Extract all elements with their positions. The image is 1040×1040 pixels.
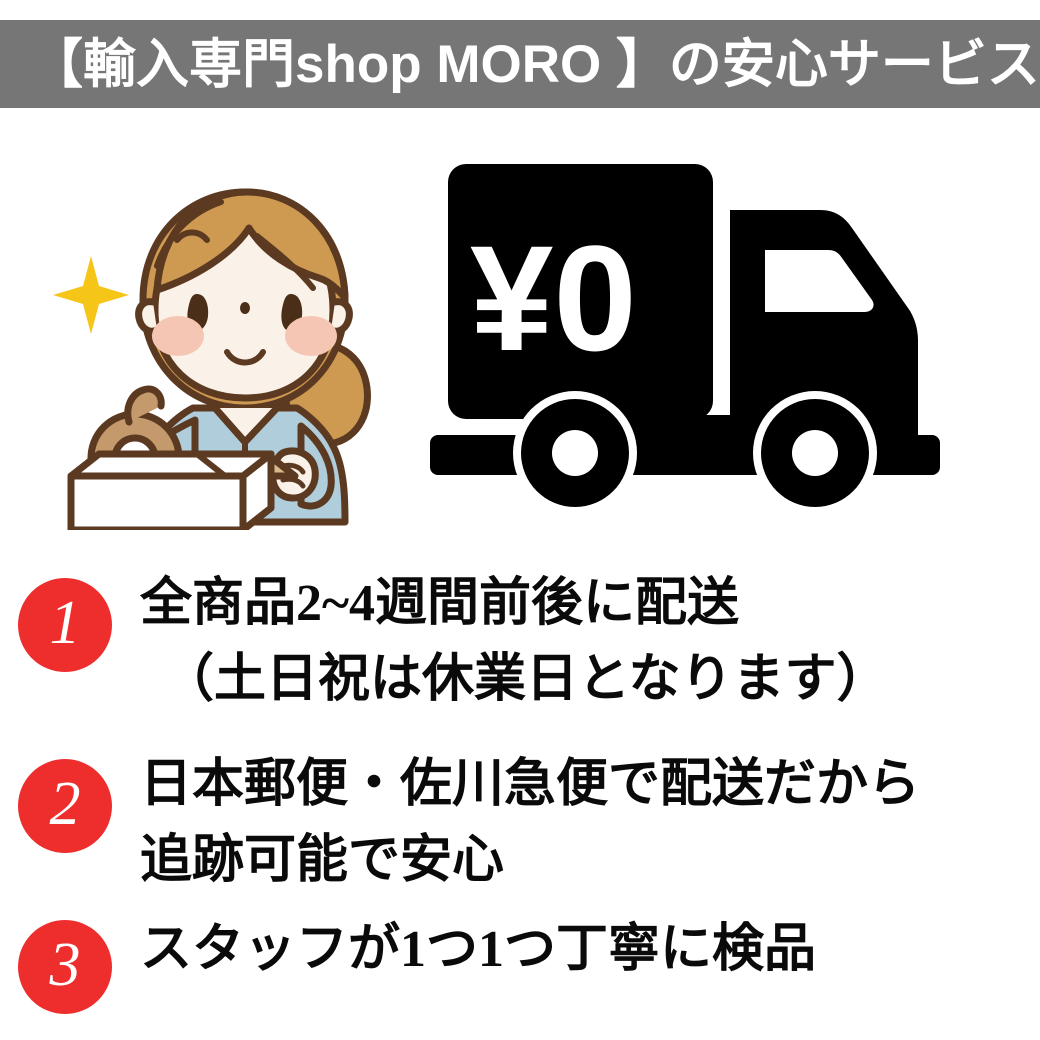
promo-service-card: 【輸入専門shop MORO 】の安心サービス [0,0,1040,1040]
badge-number-label: 3 [18,920,112,1014]
package-box [71,454,295,530]
staff-woman-illustration [45,150,415,530]
service-item-1-line-1: 全商品2~4週間前後に配送 [140,566,1030,642]
badge-number-label: 1 [18,578,112,672]
badge-number-label: 2 [18,759,112,853]
header-banner: 【輸入専門shop MORO 】の安心サービス [0,20,1040,108]
service-number-badge-1: 1 [18,578,112,672]
service-item-1-line-2: （土日祝は休業日となります） [140,642,1030,718]
cheek-right [285,316,337,356]
service-item-3-text: スタッフが1つ1つ丁寧に検品 [140,912,1030,988]
truck-wheel-rear [753,391,877,515]
service-item-2-line-1: 日本郵便・佐川急便で配送だから [140,747,1030,823]
service-item-2-text: 日本郵便・佐川急便で配送だから 追跡可能で安心 [140,747,1030,899]
service-item-3-line-1: スタッフが1つ1つ丁寧に検品 [140,912,1030,988]
service-list: 1 全商品2~4週間前後に配送 （土日祝は休業日となります） 2 日本郵便・佐川… [0,545,1040,1040]
truck-rear-bumper [890,435,940,475]
service-item-1-text: 全商品2~4週間前後に配送 （土日祝は休業日となります） [140,566,1030,718]
service-item-2-line-2: 追跡可能で安心 [140,823,1030,899]
nose [240,302,250,314]
sparkle-icon [53,256,129,334]
truck-free-shipping-label: ¥0 [470,214,637,382]
service-number-badge-3: 3 [18,920,112,1014]
service-number-badge-2: 2 [18,759,112,853]
banner-title: 【輸入専門shop MORO 】の安心サービス [0,38,1040,91]
truck-wheel-front [513,391,637,515]
cheek-left [152,316,204,356]
delivery-truck-illustration: ¥0 [420,150,1000,525]
